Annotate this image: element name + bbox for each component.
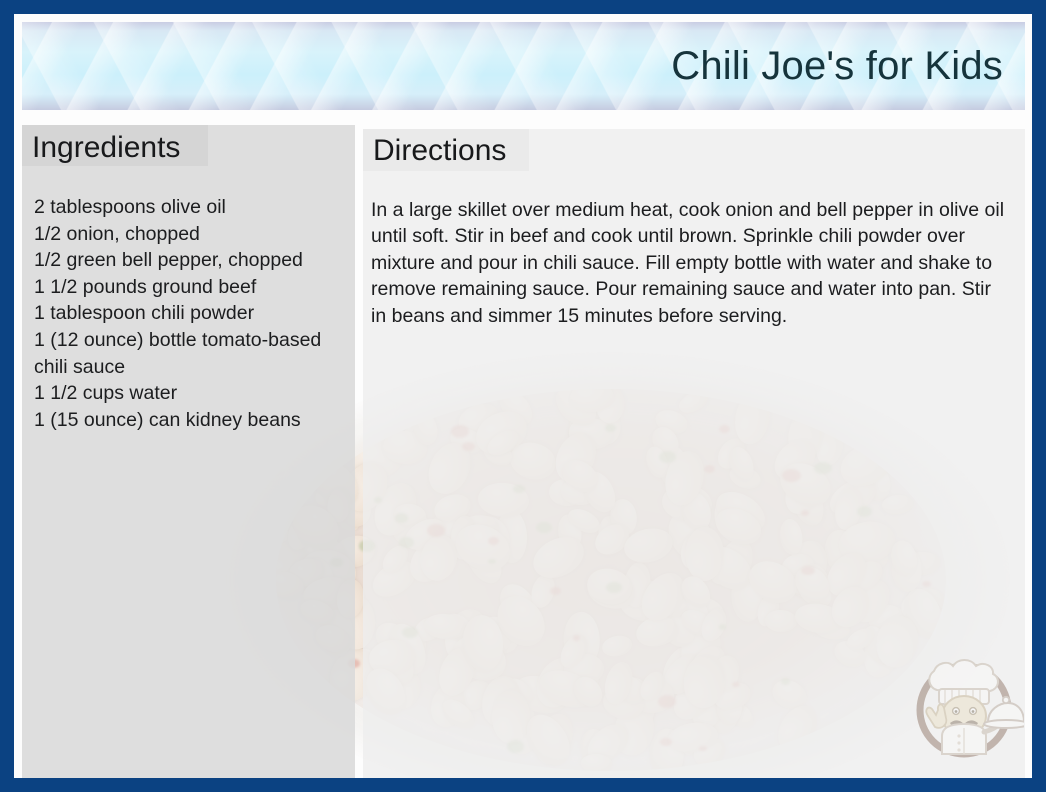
ingredient-item: 1 (15 ounce) can kidney beans (34, 407, 341, 434)
ingredient-item: 1/2 green bell pepper, chopped (34, 247, 341, 274)
ingredient-item: 1 tablespoon chili powder (34, 300, 341, 327)
ingredients-list: 2 tablespoons olive oil1/2 onion, choppe… (22, 194, 347, 433)
directions-body: In a large skillet over medium heat, coo… (371, 197, 1021, 329)
recipe-card: Chili Joe's for Kids Ingredients 2 table… (0, 0, 1046, 792)
title-banner: Chili Joe's for Kids (22, 22, 1025, 110)
ingredient-item: 1/2 onion, chopped (34, 221, 341, 248)
directions-heading: Directions (373, 134, 506, 168)
ingredient-item: 2 tablespoons olive oil (34, 194, 341, 221)
card-inner-area: Chili Joe's for Kids Ingredients 2 table… (14, 14, 1032, 778)
ingredient-item: 1 1/2 cups water (34, 380, 341, 407)
ingredient-item: 1 1/2 pounds ground beef (34, 274, 341, 301)
ingredient-item: 1 (12 ounce) bottle tomato-based chili s… (34, 327, 341, 380)
page-title: Chili Joe's for Kids (671, 44, 1003, 89)
ingredients-heading: Ingredients (32, 131, 180, 165)
chef-mascot-logo (904, 644, 1024, 764)
